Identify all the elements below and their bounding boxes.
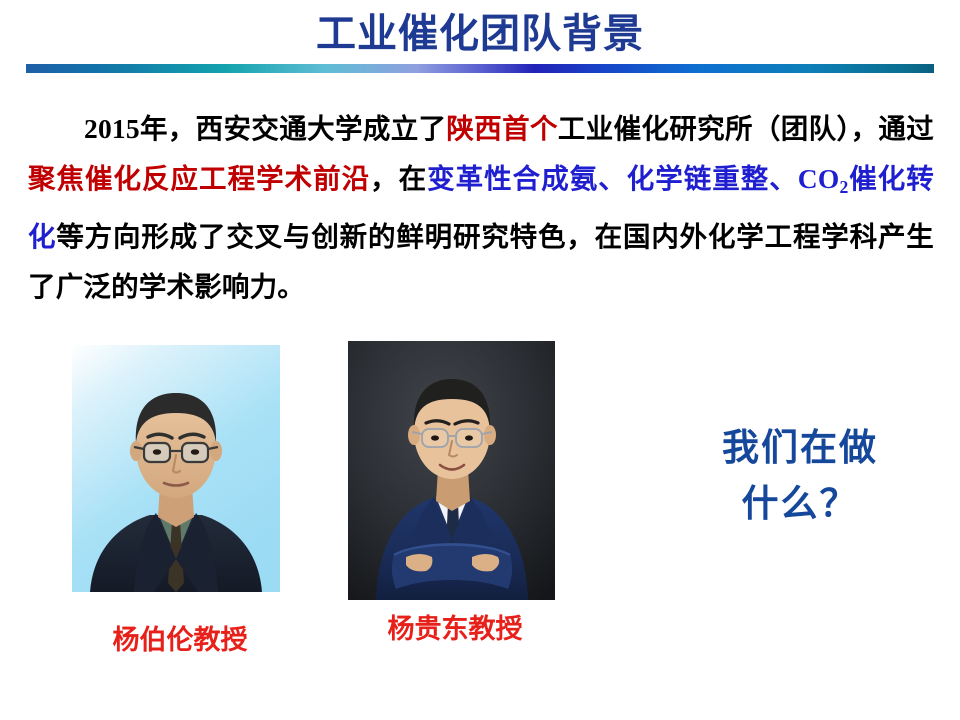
- body-run-2: 工业催化研究所（团队），通过: [558, 113, 934, 144]
- body-run-highlight-red-2: 聚焦催化反应工程学术前沿: [28, 163, 370, 194]
- portrait-illustration-2: [348, 341, 555, 600]
- page-title: 工业催化团队背景: [316, 12, 644, 56]
- photo-caption-yang-bolun: 杨伯伦教授: [80, 618, 280, 657]
- body-run-highlight-red-1: 陕西首个: [446, 113, 557, 144]
- body-paragraph: 2015年，西安交通大学成立了陕西首个工业催化研究所（团队），通过聚焦催化反应工…: [28, 104, 934, 312]
- question-callout: 我们在做 什么？: [660, 420, 940, 532]
- portrait-photo-yang-guidong: [348, 341, 555, 600]
- body-run-3: ，在: [370, 163, 427, 194]
- portrait-photo-yang-bolun: [72, 345, 280, 592]
- body-run-1: 2015年，西安交通大学成立了: [84, 113, 446, 144]
- title-divider-bar: [26, 64, 934, 73]
- question-line-2: 什么？: [660, 476, 940, 532]
- body-run-4: 等方向形成了交叉与创新的鲜明研究特色，在国内外化学工程学科产生了广泛的学术影响力…: [28, 221, 934, 302]
- photo-caption-yang-guidong: 杨贵东教授: [370, 607, 540, 646]
- title-divider: [26, 64, 934, 76]
- title-container: 工业催化团队背景: [0, 12, 960, 56]
- body-run-highlight-blue-1: 变革性合成氨、化学链重整、: [427, 163, 798, 194]
- portrait-illustration-1: [72, 345, 280, 592]
- slide-canvas: 工业催化团队背景 2015年，西安交通大学成立了陕西首个工业催化研究所（团队），…: [0, 0, 960, 720]
- body-run-co2-base: CO: [798, 163, 840, 194]
- question-line-1: 我们在做: [722, 427, 878, 468]
